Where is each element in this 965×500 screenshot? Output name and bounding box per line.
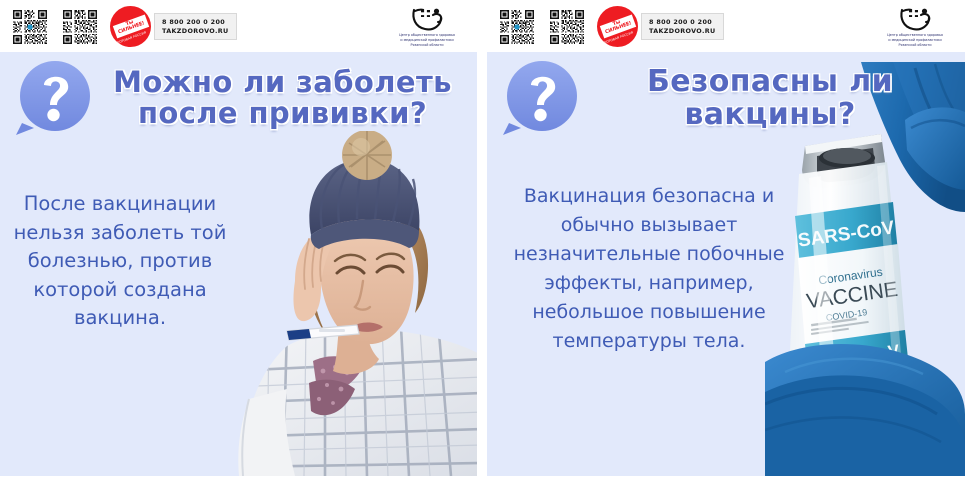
health-center-emblem: Центр общественного здоровья и медицинск… xyxy=(387,6,471,48)
emblem-line-2: и медицинской профилактики xyxy=(400,38,453,42)
takzdorovo-logo[interactable]: Ты СИЛЬНЕЕ! ЗДОРОВАЯ РОССИЯ xyxy=(597,6,638,47)
poster-left: Ты СИЛЬНЕЕ! ЗДОРОВАЯ РОССИЯ 8 800 200 0 … xyxy=(0,0,477,476)
page-title: Безопасны ли вакцины? xyxy=(583,65,965,131)
qr-code-1-icon[interactable] xyxy=(10,7,50,47)
takzdorovo-logo[interactable]: Ты СИЛЬНЕЕ! ЗДОРОВАЯ РОССИЯ xyxy=(110,6,151,47)
question-mark-speech-bubble-icon xyxy=(501,57,583,139)
health-center-emblem-icon xyxy=(410,6,444,32)
poster-pair-board: Ты СИЛЬНЕЕ! ЗДОРОВАЯ РОССИЯ 8 800 200 0 … xyxy=(0,0,965,500)
health-center-emblem: Центр общественного здоровья и медицинск… xyxy=(875,6,959,48)
hotline-phone[interactable]: 8 800 200 0 200 xyxy=(649,18,716,27)
emblem-line-3: Рязанской области xyxy=(899,43,932,47)
poster-right: Ты СИЛЬНЕЕ! ЗДОРОВАЯ РОССИЯ 8 800 200 0 … xyxy=(487,0,965,476)
hotline-phone[interactable]: 8 800 200 0 200 xyxy=(162,18,229,27)
page-title: Можно ли заболеть после прививки? xyxy=(96,67,477,129)
qr-code-1-icon[interactable] xyxy=(497,7,537,47)
poster-header: Ты СИЛЬНЕЕ! ЗДОРОВАЯ РОССИЯ 8 800 200 0 … xyxy=(0,0,477,52)
poster-body-text: После вакцинации нельзя заболеть той бол… xyxy=(6,190,234,333)
title-row: Можно ли заболеть после прививки? xyxy=(0,52,477,144)
hotline-website[interactable]: TAKZDOROVO.RU xyxy=(649,27,716,36)
emblem-line-1: Центр общественного здоровья xyxy=(399,33,455,37)
qr-code-2-icon[interactable] xyxy=(547,7,587,47)
emblem-line-3: Рязанской области xyxy=(411,43,444,47)
hotline-website[interactable]: TAKZDOROVO.RU xyxy=(162,27,229,36)
contact-block: 8 800 200 0 200 TAKZDOROVO.RU xyxy=(641,13,724,40)
qr-code-2-icon[interactable] xyxy=(60,7,100,47)
health-center-emblem-icon xyxy=(898,6,932,32)
emblem-line-1: Центр общественного здоровья xyxy=(887,33,943,37)
poster-header: Ты СИЛЬНЕЕ! ЗДОРОВАЯ РОССИЯ 8 800 200 0 … xyxy=(487,0,965,52)
title-row: Безопасны ли вакцины? xyxy=(487,52,965,144)
question-mark-speech-bubble-icon xyxy=(14,57,96,139)
emblem-line-2: и медицинской профилактики xyxy=(888,38,941,42)
contact-block: 8 800 200 0 200 TAKZDOROVO.RU xyxy=(154,13,237,40)
poster-body-text: Вакцинация безопасна и обычно вызывает н… xyxy=(499,182,799,356)
